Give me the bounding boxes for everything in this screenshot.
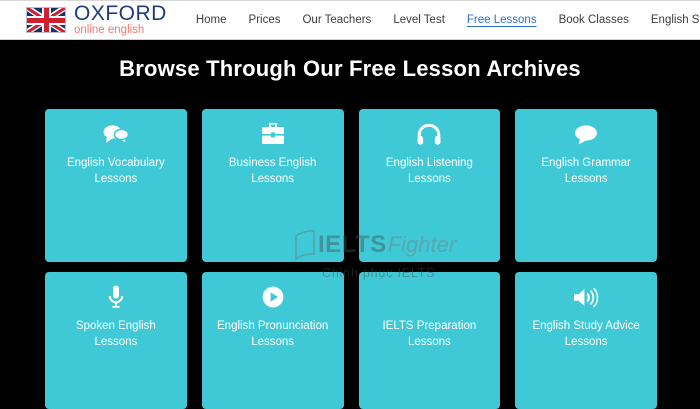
site-header: OXFORD online english Home Prices Our Te… — [0, 0, 700, 40]
page-root: OXFORD online english Home Prices Our Te… — [0, 0, 700, 409]
lesson-grid-row: Spoken English Lessons English Pronuncia… — [45, 272, 657, 409]
lesson-tile-english-listening[interactable]: English Listening Lessons — [359, 109, 501, 262]
lesson-tile-english-grammar[interactable]: English Grammar Lessons — [515, 109, 657, 262]
lesson-tile-business-english[interactable]: Business English Lessons — [202, 109, 344, 262]
lesson-tile-label: English Listening Lessons — [359, 155, 501, 187]
lesson-tile-label: English Grammar Lessons — [515, 155, 657, 187]
headphones-icon — [417, 121, 441, 147]
nav-item-free-lessons[interactable]: Free Lessons — [456, 10, 548, 30]
lesson-tile-english-study-advice[interactable]: English Study Advice Lessons — [515, 272, 657, 409]
lesson-tile-label: English Pronunciation Lessons — [202, 318, 344, 350]
lesson-tile-ielts-preparation[interactable]: IELTS Preparation Lessons — [359, 272, 501, 409]
lesson-tile-english-vocabulary[interactable]: English Vocabulary Lessons — [45, 109, 187, 262]
lesson-tile-english-pronunciation[interactable]: English Pronunciation Lessons — [202, 272, 344, 409]
nav-item-english-study-resources[interactable]: English Study Resources — [640, 10, 700, 30]
logo-title: OXFORD — [74, 3, 167, 24]
speech-bubbles-icon — [103, 121, 129, 147]
page-title: Browse Through Our Free Lesson Archives — [0, 56, 700, 82]
main-navigation: Home Prices Our Teachers Level Test Free… — [185, 10, 700, 30]
lesson-tile-spoken-english[interactable]: Spoken English Lessons — [45, 272, 187, 409]
lesson-tile-label: Business English Lessons — [202, 155, 344, 187]
uk-flag-icon — [26, 7, 66, 33]
logo-subtitle: online english — [74, 25, 167, 37]
nav-item-home[interactable]: Home — [185, 10, 238, 30]
lesson-archive-grid: English Vocabulary Lessons Business Engl… — [45, 109, 657, 409]
briefcase-icon — [261, 121, 285, 147]
speaker-volume-icon — [573, 284, 599, 310]
lesson-tile-label: Spoken English Lessons — [45, 318, 187, 350]
nav-item-level-test[interactable]: Level Test — [382, 10, 456, 30]
logo-text: OXFORD online english — [74, 3, 167, 37]
microphone-icon — [108, 284, 124, 310]
site-logo[interactable]: OXFORD online english — [26, 3, 167, 37]
play-circle-icon — [262, 284, 284, 310]
nav-item-our-teachers[interactable]: Our Teachers — [291, 10, 382, 30]
nav-item-prices[interactable]: Prices — [238, 10, 292, 30]
lesson-tile-label: English Vocabulary Lessons — [45, 155, 187, 187]
lesson-grid-row: English Vocabulary Lessons Business Engl… — [45, 109, 657, 262]
lesson-tile-label: IELTS Preparation Lessons — [359, 318, 501, 350]
lesson-tile-label: English Study Advice Lessons — [515, 318, 657, 350]
nav-item-book-classes[interactable]: Book Classes — [548, 10, 640, 30]
speech-bubble-icon — [574, 121, 598, 147]
